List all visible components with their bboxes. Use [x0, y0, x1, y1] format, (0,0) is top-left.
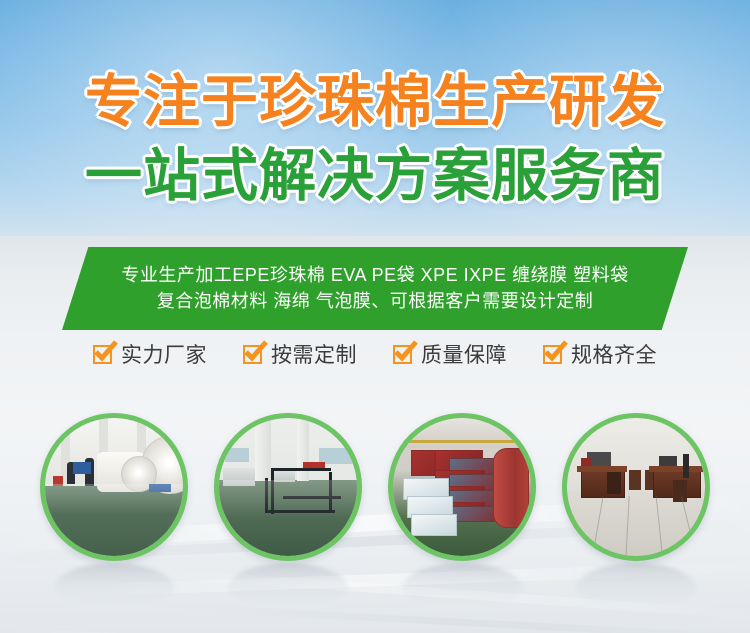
feature-label: 按需定制 — [271, 339, 357, 369]
feature-label: 质量保障 — [421, 339, 507, 369]
product-list-banner: 专业生产加工EPE珍珠棉 EVA PE袋 XPE IXPE 缠绕膜 塑料袋 复合… — [62, 247, 688, 330]
feature-item-specs: 规格齐全 — [543, 339, 657, 369]
check-icon — [543, 345, 562, 364]
photo-gallery — [0, 413, 750, 561]
promotional-banner: 专注于珍珠棉生产研发 一站式解决方案服务商 专业生产加工EPE珍珠棉 EVA P… — [0, 0, 750, 633]
feature-list: 实力厂家 按需定制 质量保障 规格齐全 — [0, 339, 750, 369]
photo-item-1 — [40, 413, 188, 561]
check-icon — [393, 345, 412, 364]
photo-reflection — [402, 563, 522, 605]
product-list-text: 专业生产加工EPE珍珠棉 EVA PE袋 XPE IXPE 缠绕膜 塑料袋 复合… — [62, 247, 688, 330]
background-shade — [180, 604, 750, 633]
photo-reflection — [576, 563, 696, 605]
feature-label: 实力厂家 — [121, 339, 207, 369]
feature-label: 规格齐全 — [571, 339, 657, 369]
feature-item-quality: 质量保障 — [393, 339, 507, 369]
photo-reflection — [228, 563, 348, 605]
feature-item-strength: 实力厂家 — [93, 339, 207, 369]
headline-block: 专注于珍珠棉生产研发 一站式解决方案服务商 — [0, 74, 750, 205]
warehouse-interior-photo — [214, 413, 362, 561]
photo-item-3 — [388, 413, 536, 561]
headline-line-1: 专注于珍珠棉生产研发 — [0, 74, 750, 131]
headline-line-2: 一站式解决方案服务商 — [0, 148, 750, 205]
check-icon — [243, 345, 262, 364]
photo-item-2 — [214, 413, 362, 561]
photo-item-4 — [562, 413, 710, 561]
product-list-line-1: 专业生产加工EPE珍珠棉 EVA PE袋 XPE IXPE 缠绕膜 塑料袋 — [121, 266, 628, 286]
office-interior-photo — [562, 413, 710, 561]
product-list-line-2: 复合泡棉材料 海绵 气泡膜、可根据客户需要设计定制 — [157, 292, 594, 312]
check-icon — [93, 345, 112, 364]
stacked-products-photo — [388, 413, 536, 561]
factory-foam-rolls-photo — [40, 413, 188, 561]
photo-reflection — [54, 563, 174, 605]
feature-item-custom: 按需定制 — [243, 339, 357, 369]
